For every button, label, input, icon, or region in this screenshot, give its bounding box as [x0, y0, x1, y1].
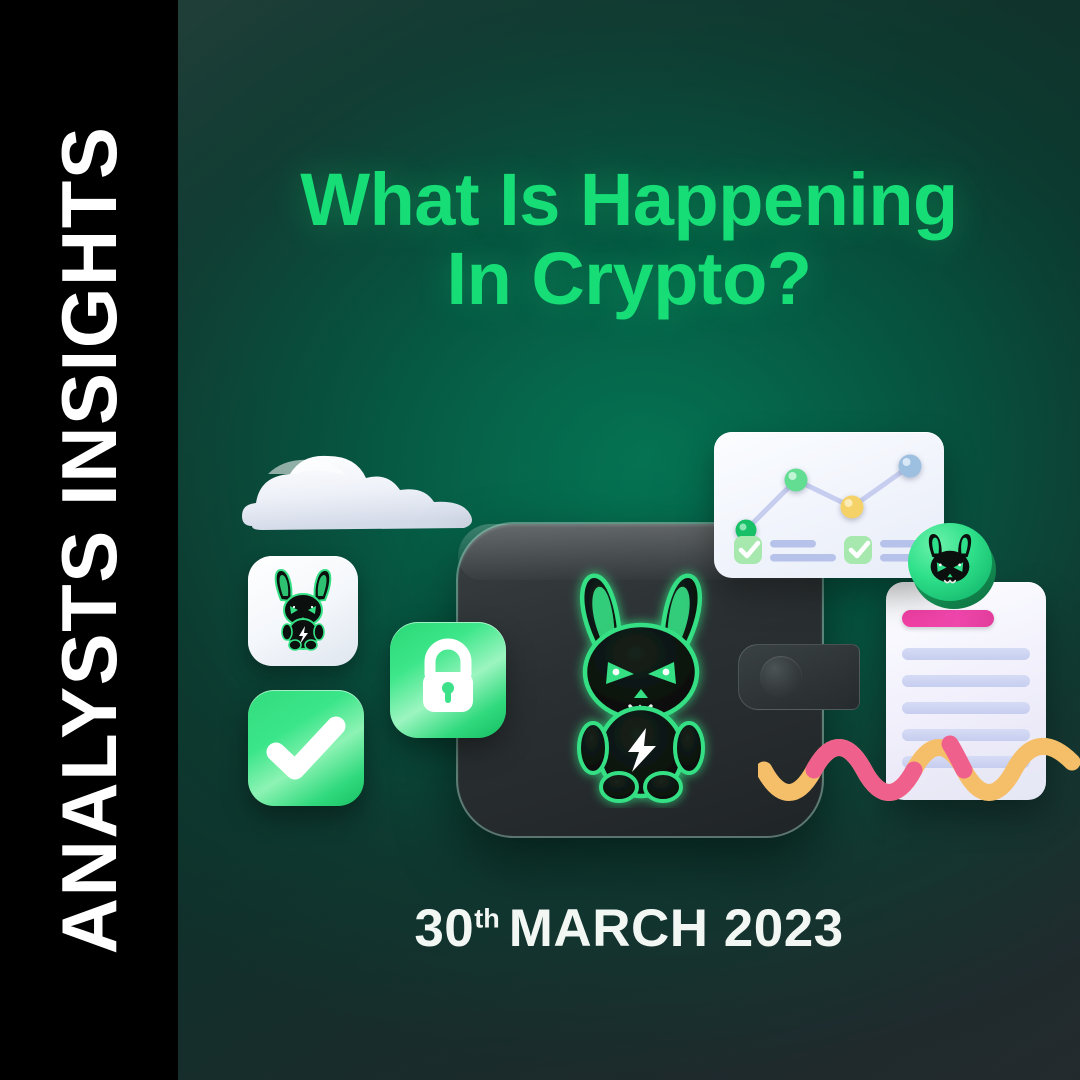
chart-point-4: [899, 455, 922, 478]
wallet-clasp-button[interactable]: [760, 656, 802, 698]
bunny-logo-tile[interactable]: [248, 556, 358, 666]
date-day: 30: [414, 899, 474, 958]
chart-point-2: [785, 469, 808, 492]
bunny-logo-icon: [248, 556, 358, 666]
chart-point-3: [841, 496, 864, 519]
document-line: [902, 675, 1030, 687]
date-month-year: MARCH 2023: [509, 899, 844, 958]
document-header-bar: [902, 610, 994, 627]
page-title: What Is Happening In Crypto?: [178, 160, 1080, 318]
cloud-icon: [238, 452, 478, 534]
bunny-mascot-icon: [546, 556, 736, 808]
wave-squiggle-icon: [758, 722, 1080, 808]
lock-tile[interactable]: [390, 622, 506, 738]
social-post-canvas: ANALYSTS INSIGHTS What Is Happening In C…: [0, 0, 1080, 1080]
page-title-line-2: In Crypto?: [178, 239, 1080, 318]
post-date: 30thMARCH 2023: [178, 898, 1080, 959]
padlock-icon: [390, 622, 506, 738]
sidebar-title: ANALYSTS INSIGHTS: [50, 126, 128, 955]
document-line: [902, 702, 1030, 714]
bunny-token-coin[interactable]: [904, 516, 1000, 612]
checkmark-tile[interactable]: [248, 690, 364, 806]
page-title-line-1: What Is Happening: [300, 158, 958, 241]
main-panel: What Is Happening In Crypto? 30thMARCH 2…: [178, 0, 1080, 1080]
check-icon: [248, 690, 364, 806]
sidebar: ANALYSTS INSIGHTS: [0, 0, 178, 1080]
document-line: [902, 648, 1030, 660]
checklist-item-1: [734, 536, 836, 564]
date-day-suffix: th: [474, 903, 499, 933]
